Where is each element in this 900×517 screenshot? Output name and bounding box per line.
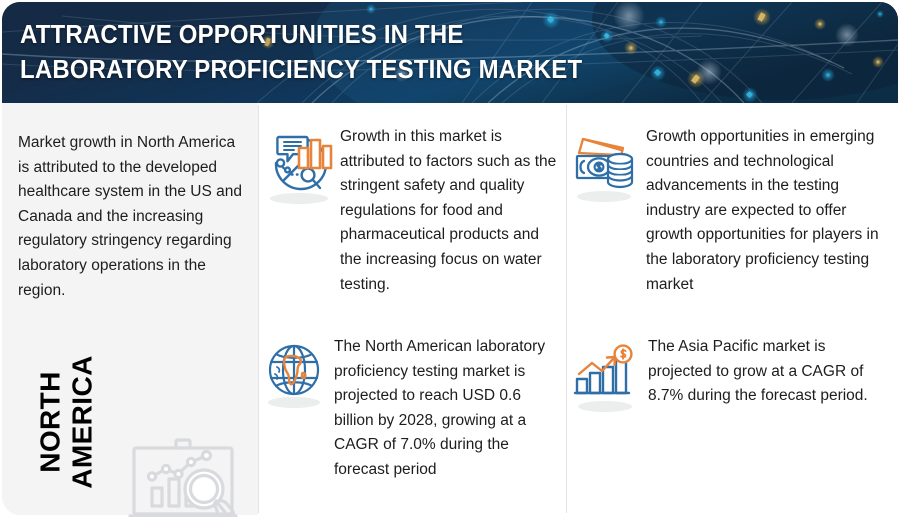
icon-container xyxy=(574,133,634,193)
money-cash-coins-icon xyxy=(574,133,634,193)
card-emerging-opportunities: Growth opportunities in emerging countri… xyxy=(574,125,894,297)
icon-shadow xyxy=(577,191,631,202)
globe-icon xyxy=(266,343,322,399)
card-asia-pacific-cagr: The Asia Pacific market is projected to … xyxy=(574,335,894,409)
region-label: NORTH AMERICA xyxy=(35,335,99,510)
icon-container xyxy=(266,131,332,197)
icon-shadow xyxy=(578,401,632,412)
icon-container xyxy=(574,345,636,403)
card-text: The Asia Pacific market is projected to … xyxy=(648,335,882,409)
page-title: ATTRACTIVE OPPORTUNITIES IN THE LABORATO… xyxy=(20,18,622,88)
analytics-percent-magnifier-icon xyxy=(266,131,332,197)
card-market-growth-factors: Growth in this market is attributed to f… xyxy=(266,125,562,297)
growth-bar-chart-dollar-icon xyxy=(574,345,636,403)
presentation-chart-magnifier-icon xyxy=(128,438,240,517)
card-north-america-forecast: The North American laboratory proficienc… xyxy=(266,335,562,483)
icon-container xyxy=(266,343,322,399)
divider-right xyxy=(566,105,567,513)
icon-shadow xyxy=(270,193,328,204)
card-text: Growth in this market is attributed to f… xyxy=(340,125,562,297)
icon-shadow xyxy=(268,397,320,408)
left-panel: Market growth in North America is attrib… xyxy=(2,103,258,515)
header-banner: ATTRACTIVE OPPORTUNITIES IN THE LABORATO… xyxy=(2,2,898,103)
north-america-block: NORTH AMERICA xyxy=(2,328,258,515)
content-area: Market growth in North America is attrib… xyxy=(2,103,898,515)
card-text: The North American laboratory proficienc… xyxy=(334,335,562,483)
card-text: Growth opportunities in emerging countri… xyxy=(646,125,890,297)
infographic-root: ATTRACTIVE OPPORTUNITIES IN THE LABORATO… xyxy=(0,0,900,517)
north-america-description: Market growth in North America is attrib… xyxy=(18,131,246,303)
divider-left xyxy=(258,105,259,513)
